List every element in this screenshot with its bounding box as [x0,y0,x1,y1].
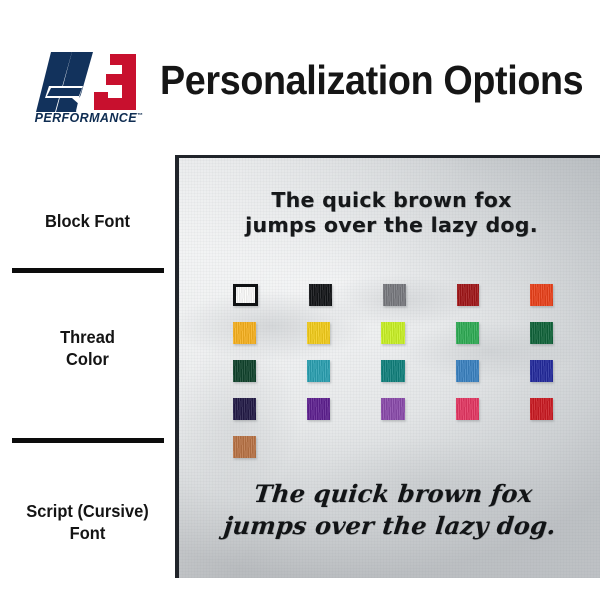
a3-performance-logo: PERFORMANCE™ [28,52,150,134]
swatch-dark-green[interactable] [530,322,553,344]
script-font-sample: The quick brown fox jumps over the lazy … [176,478,600,542]
thread-color-swatch-grid [233,284,553,474]
swatch-forest-green[interactable] [233,360,256,382]
swatch-copper[interactable] [233,436,256,458]
swatch-navy[interactable] [233,398,256,420]
swatch-row [233,360,553,382]
sidebar-label-block-font-text: Block Font [5,210,170,232]
swatch-lime[interactable] [381,322,404,344]
swatch-black[interactable] [309,284,332,306]
swatch-red[interactable] [530,398,553,420]
swatch-light-purple[interactable] [381,398,404,420]
sidebar-label-script-font-line1: Script (Cursive) [5,500,170,522]
trademark-icon: ™ [137,113,143,119]
swatch-row [233,398,553,420]
swatch-white[interactable] [233,284,258,306]
logo-wordmark: PERFORMANCE™ [28,111,150,125]
script-font-sample-line1: The quick brown fox [179,478,600,510]
sidebar-divider-2 [12,438,164,443]
block-font-sample-line2: jumps over the lazy dog. [179,213,600,238]
sidebar-label-script-font-line2: Font [5,522,170,544]
logo-wordmark-text: PERFORMANCE [35,111,137,125]
a3-logo-mark [36,52,144,112]
swatch-row [233,322,553,344]
swatch-teal[interactable] [381,360,404,382]
page-title: Personalization Options [160,57,556,103]
embroidery-sample-photo: The quick brown fox jumps over the lazy … [175,155,600,578]
sidebar-label-block-font: Block Font [5,210,170,232]
swatch-dark-red[interactable] [457,284,480,306]
swatch-placeholder [530,436,553,458]
swatch-columbia-blue[interactable] [456,360,479,382]
swatch-turquoise[interactable] [307,360,330,382]
swatch-kelly-green[interactable] [456,322,479,344]
sidebar-label-thread-color-line2: Color [5,348,170,370]
swatch-placeholder [456,436,479,458]
swatch-orange[interactable] [530,284,553,306]
swatch-gray[interactable] [383,284,406,306]
swatch-royal-blue[interactable] [530,360,553,382]
sidebar-label-thread-color: Thread Color [5,326,170,370]
swatch-pink[interactable] [456,398,479,420]
swatch-purple[interactable] [307,398,330,420]
sidebar-divider-1 [12,268,164,273]
block-font-sample: The quick brown fox jumps over the lazy … [179,188,600,238]
swatch-row [233,284,553,306]
sidebar: Block Font Thread Color Script (Cursive)… [0,150,175,600]
page-header: PERFORMANCE™ Personalization Options [0,0,600,150]
sidebar-label-script-font: Script (Cursive) Font [5,500,170,544]
script-font-sample-line2: jumps over the lazy dog. [176,510,600,542]
swatch-row [233,436,553,458]
swatch-gold[interactable] [233,322,256,344]
swatch-placeholder [381,436,404,458]
sidebar-label-thread-color-line1: Thread [5,326,170,348]
swatch-placeholder [307,436,330,458]
swatch-yellow[interactable] [307,322,330,344]
block-font-sample-line1: The quick brown fox [179,188,600,213]
